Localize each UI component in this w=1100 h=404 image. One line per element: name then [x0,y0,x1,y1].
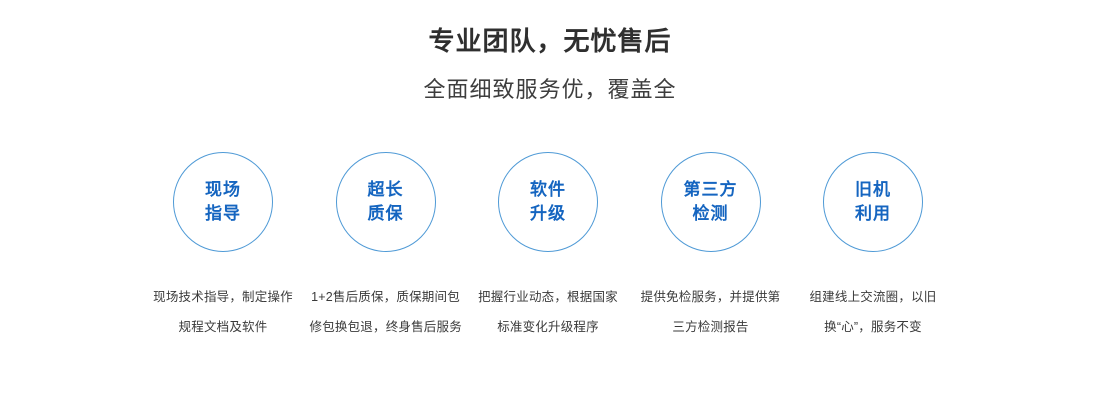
caption-line2: 三方检测报告 [635,312,787,342]
feature-caption-third-party-inspection: 提供免检服务，并提供第 三方检测报告 [635,282,787,342]
feature-list: 现场 指导 现场技术指导，制定操作 规程文档及软件 超长 质保 1+2售后质保，… [148,152,948,342]
page-title: 专业团队，无忧售后 [0,24,1100,58]
heading-block: 专业团队，无忧售后 全面细致服务优，覆盖全 [0,24,1100,106]
caption-line1: 提供免检服务，并提供第 [635,282,787,312]
circle-label-line1: 第三方 [684,178,738,202]
feature-circle-onsite-guidance: 现场 指导 [173,152,273,252]
caption-line1: 现场技术指导，制定操作 [147,282,299,312]
caption-line2: 换“心”，服务不变 [797,312,949,342]
caption-line2: 标准变化升级程序 [472,312,624,342]
feature-item-software-upgrade: 软件 升级 把握行业动态，根据国家 标准变化升级程序 [473,152,623,342]
feature-circle-software-upgrade: 软件 升级 [498,152,598,252]
feature-circle-trade-in: 旧机 利用 [823,152,923,252]
circle-label-line1: 超长 [368,178,404,202]
circle-label-line1: 软件 [530,178,566,202]
circle-label-line2: 检测 [693,202,729,226]
caption-line1: 组建线上交流圈，以旧 [797,282,949,312]
feature-caption-onsite-guidance: 现场技术指导，制定操作 规程文档及软件 [147,282,299,342]
feature-item-extended-warranty: 超长 质保 1+2售后质保，质保期间包 修包换包退，终身售后服务 [311,152,461,342]
feature-caption-extended-warranty: 1+2售后质保，质保期间包 修包换包退，终身售后服务 [310,282,462,342]
feature-circle-third-party-inspection: 第三方 检测 [661,152,761,252]
feature-item-third-party-inspection: 第三方 检测 提供免检服务，并提供第 三方检测报告 [636,152,786,342]
feature-circle-extended-warranty: 超长 质保 [336,152,436,252]
circle-label-line1: 旧机 [855,178,891,202]
circle-label-line2: 利用 [855,202,891,226]
feature-item-trade-in: 旧机 利用 组建线上交流圈，以旧 换“心”，服务不变 [798,152,948,342]
circle-label-line2: 升级 [530,202,566,226]
feature-caption-software-upgrade: 把握行业动态，根据国家 标准变化升级程序 [472,282,624,342]
caption-line2: 规程文档及软件 [147,312,299,342]
circle-label-line2: 指导 [205,202,241,226]
page-subtitle: 全面细致服务优，覆盖全 [0,74,1100,106]
circle-label-line1: 现场 [205,178,241,202]
caption-line1: 1+2售后质保，质保期间包 [310,282,462,312]
feature-caption-trade-in: 组建线上交流圈，以旧 换“心”，服务不变 [797,282,949,342]
caption-line1: 把握行业动态，根据国家 [472,282,624,312]
caption-line2: 修包换包退，终身售后服务 [310,312,462,342]
service-promise-section: 专业团队，无忧售后 全面细致服务优，覆盖全 现场 指导 现场技术指导，制定操作 … [0,0,1100,404]
feature-item-onsite-guidance: 现场 指导 现场技术指导，制定操作 规程文档及软件 [148,152,298,342]
circle-label-line2: 质保 [368,202,404,226]
